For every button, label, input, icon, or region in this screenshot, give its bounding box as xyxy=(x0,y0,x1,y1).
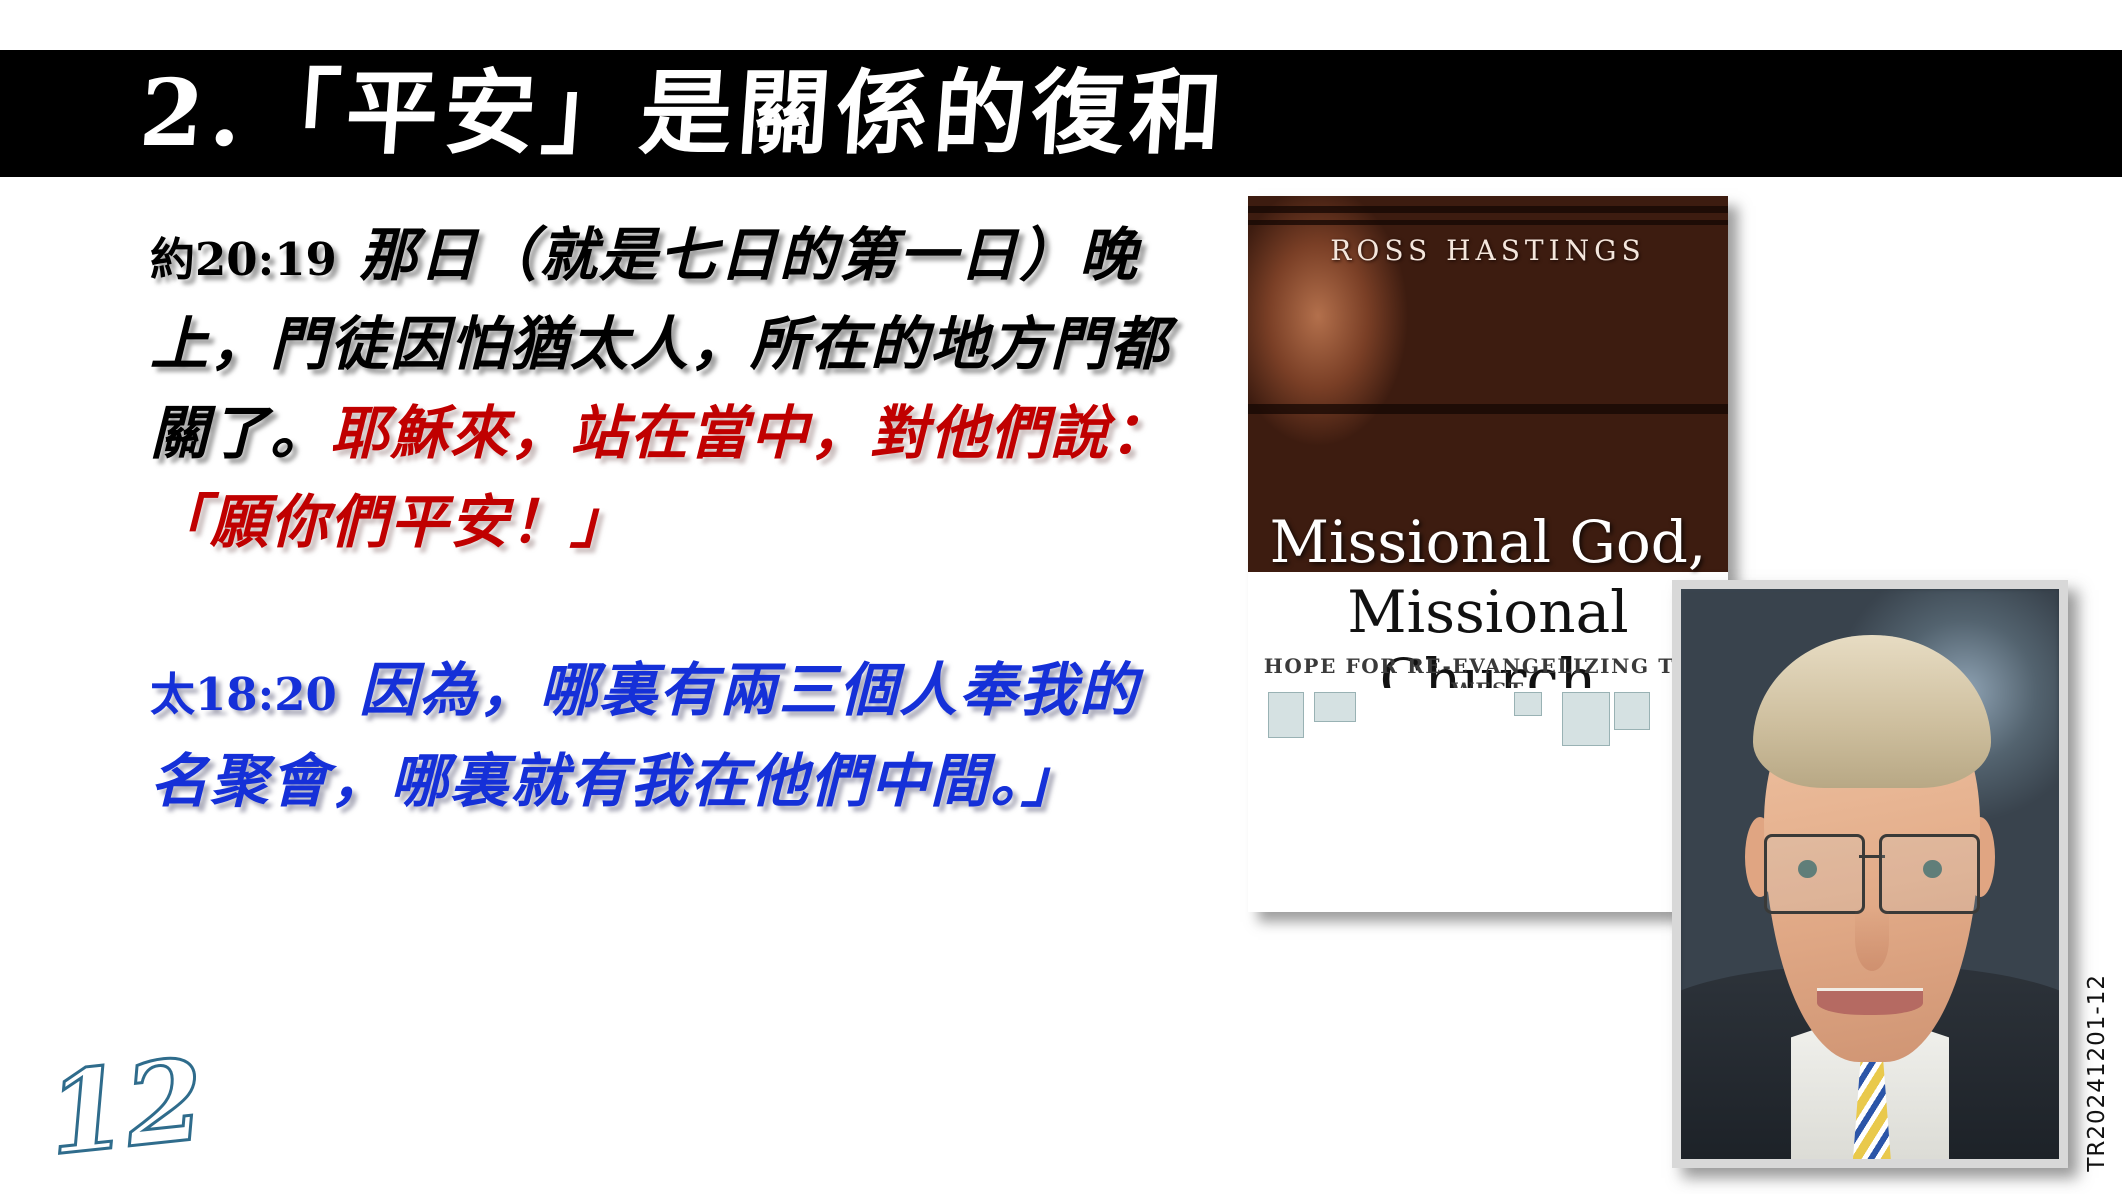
portrait-mouth xyxy=(1817,988,1923,1015)
book-cover-rail-middle xyxy=(1248,404,1728,414)
page-number: 12 xyxy=(43,1044,210,1172)
book-cover-rail-top xyxy=(1248,206,1728,213)
presentation-slide: 2.「平安」是關係的復和 約20:19 那日（就是七日的第一日）晚上，門徒因怕猶… xyxy=(0,0,2122,1194)
portrait-photo xyxy=(1672,580,2068,1168)
verse-reference-matthew: 太18:20 xyxy=(150,668,337,721)
book-cover-rail-second xyxy=(1248,220,1728,225)
portrait-lens-right xyxy=(1879,834,1980,914)
book-author-name: ROSS HASTINGS xyxy=(1248,234,1728,267)
portrait-lens-left xyxy=(1764,834,1865,914)
verse-block-john: 約20:19 那日（就是七日的第一日）晚上，門徒因怕猶太人，所在的地方門都關了。… xyxy=(150,218,1180,574)
book-cover-crowd-photo xyxy=(1262,688,1714,900)
book-cover-image: ROSS HASTINGS Missional God, Missional C… xyxy=(1248,196,1728,912)
verse-block-matthew: 太18:20 因為，哪裏有兩三個人奉我的名聚會，哪裏就有我在他們中間。」 xyxy=(150,652,1180,834)
portrait-nose xyxy=(1855,908,1889,971)
book-title-line-1: Missional God, xyxy=(1248,508,1728,576)
verse-reference-john: 約20:19 xyxy=(150,233,337,286)
slide-reference-code: TR20241201-12 xyxy=(2084,974,2110,1172)
page-title: 2.「平安」是關係的復和 xyxy=(136,57,1232,169)
portrait-photo-inner xyxy=(1681,589,2059,1159)
body-text-column: 約20:19 那日（就是七日的第一日）晚上，門徒因怕猶太人，所在的地方門都關了。… xyxy=(150,218,1180,834)
eyeglasses-icon xyxy=(1764,834,1979,908)
